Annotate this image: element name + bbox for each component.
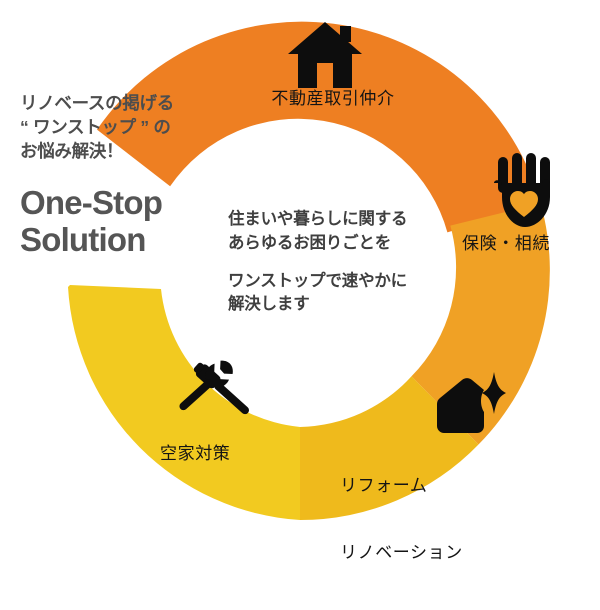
- center-description: 住まいや暮らしに関する あらゆるお困りごとを ワンストップで速やかに 解決します: [228, 208, 463, 317]
- center-paragraph-1-line-2: あらゆるお困りごとを: [228, 234, 391, 252]
- headline-block: リノベースの掲げる “ ワンストップ ” の お悩み解決！ One-Stop S…: [20, 92, 220, 259]
- lead-line-2: “ ワンストップ ” の: [20, 116, 220, 140]
- center-paragraph-1: 住まいや暮らしに関する あらゆるお困りごとを: [228, 208, 463, 256]
- center-paragraph-2: ワンストップで速やかに 解決します: [228, 270, 463, 318]
- one-stop-solution-infographic: 不動産取引仲介 保険・相続 リフォーム リノベーション 空家対策 リノベースの掲…: [0, 0, 600, 533]
- segment-label-renovation-line1: リフォーム: [340, 475, 520, 497]
- page-title: One-Stop Solution: [20, 185, 220, 259]
- center-paragraph-2-line-1: ワンストップで速やかに: [228, 272, 407, 290]
- center-paragraph-1-line-1: 住まいや暮らしに関する: [228, 210, 407, 228]
- headline-line-1: One-Stop: [20, 185, 220, 222]
- center-paragraph-2-line-2: 解決します: [228, 295, 310, 313]
- lead-line-3: お悩み解決！: [20, 140, 220, 164]
- headline-line-2: Solution: [20, 222, 220, 259]
- segment-label-real-estate: 不動産取引仲介: [248, 88, 418, 110]
- lead-text: リノベースの掲げる “ ワンストップ ” の お悩み解決！: [20, 92, 220, 163]
- segment-label-renovation-line2: リノベーション: [340, 542, 520, 564]
- segment-label-insurance: 保険・相続: [462, 233, 590, 255]
- segment-label-renovation: リフォーム リノベーション: [340, 430, 520, 610]
- lead-line-1: リノベースの掲げる: [20, 92, 220, 116]
- segment-label-vacant-house: 空家対策: [160, 443, 280, 465]
